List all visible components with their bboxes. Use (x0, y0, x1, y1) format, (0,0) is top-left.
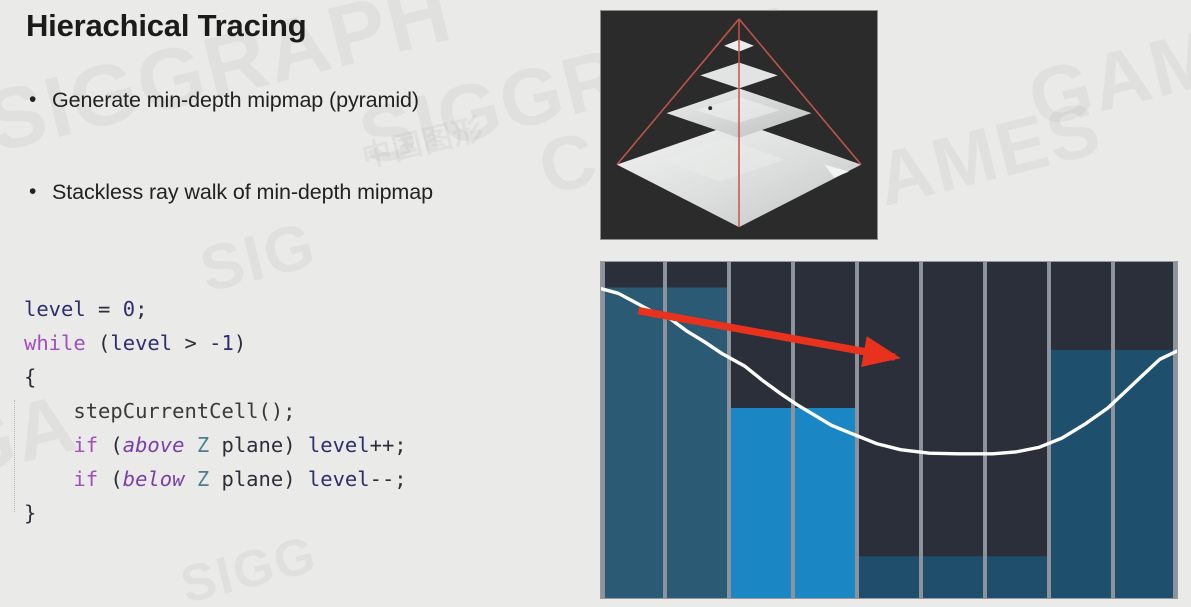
code-token: while (24, 331, 86, 355)
code-token: ( (98, 433, 123, 457)
pyramid-illustration (601, 11, 877, 239)
code-token (184, 467, 196, 491)
code-token: ( (86, 331, 111, 355)
watermark-text: GAMES 1 (1019, 0, 1191, 146)
bullet-label: Generate min-depth mipmap (pyramid) (52, 85, 419, 115)
cell-min-depth-block (729, 408, 793, 598)
code-token: ++; (370, 433, 407, 457)
code-token: > (172, 331, 209, 355)
code-token: ; (135, 297, 147, 321)
cell-min-depth-block (921, 556, 985, 598)
code-line: if (above Z plane) level++; (24, 428, 407, 462)
code-token: 0 (123, 297, 135, 321)
code-line: level = 0; (24, 292, 407, 326)
code-snippet: level = 0;while (level > -1){ stepCurren… (24, 292, 407, 530)
code-line: while (level > -1) (24, 326, 407, 360)
code-token: -1 (209, 331, 234, 355)
code-token: ) (234, 331, 246, 355)
code-token: plane) (209, 467, 308, 491)
code-token: below (123, 467, 185, 491)
code-token: stepCurrentCell(); (24, 399, 296, 423)
code-line: stepCurrentCell(); (24, 394, 407, 428)
code-token: above (123, 433, 185, 457)
code-token (184, 433, 196, 457)
code-token: if (73, 467, 98, 491)
bullet-dot-icon: • (26, 85, 52, 115)
cell-min-depth-block (1113, 350, 1177, 598)
slide-left-column: Hierachical Tracing • Generate min-depth… (0, 0, 600, 607)
code-token (24, 433, 73, 457)
cell-min-depth-block (857, 556, 921, 598)
code-token: plane) (209, 433, 308, 457)
code-line: } (24, 496, 407, 530)
code-indent-guide (14, 400, 15, 512)
code-token: Z (197, 467, 209, 491)
code-token (24, 467, 73, 491)
code-token: = (86, 297, 123, 321)
code-token: level (308, 433, 370, 457)
code-token: } (24, 501, 36, 525)
cell-min-depth-block (793, 408, 857, 598)
code-token: level (308, 467, 370, 491)
code-token: { (24, 365, 36, 389)
code-token: level (110, 331, 172, 355)
depth-buffer-chart (600, 261, 1178, 599)
cell-min-depth-block (1049, 350, 1113, 598)
cell-min-depth-block (601, 287, 665, 598)
bullet-dot-icon: • (26, 177, 52, 207)
bullet-list: • Generate min-depth mipmap (pyramid) • … (26, 85, 586, 269)
cell-min-depth-block (985, 556, 1049, 598)
code-token: ( (98, 467, 123, 491)
bullet-label: Stackless ray walk of min-depth mipmap (52, 177, 433, 207)
list-item: • Stackless ray walk of min-depth mipmap (26, 177, 586, 207)
code-token: Z (197, 433, 209, 457)
list-item: • Generate min-depth mipmap (pyramid) (26, 85, 586, 115)
cell-min-depth-block (665, 287, 729, 598)
code-line: { (24, 360, 407, 394)
depth-chart-svg (601, 262, 1177, 598)
page-title: Hierachical Tracing (26, 8, 307, 44)
code-token: --; (370, 467, 407, 491)
code-token: level (24, 297, 86, 321)
mipmap-pyramid-image (600, 10, 878, 240)
code-line: if (below Z plane) level--; (24, 462, 407, 496)
code-token: if (73, 433, 98, 457)
